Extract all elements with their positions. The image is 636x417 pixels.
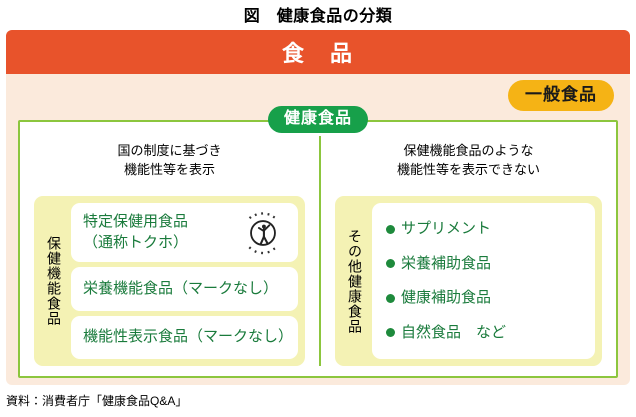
- group-panel-sonota-kenkou: その他健康食品 サプリメント 栄養補助食品 健康: [335, 196, 602, 366]
- tokuho-mark-icon: [240, 210, 286, 256]
- list-item: 自然食品 など: [386, 324, 595, 342]
- list-item-label: 健康補助食品: [401, 289, 491, 307]
- item-card-nutrient-function-food: 栄養機能食品（マークなし）: [71, 267, 298, 310]
- item-card-tokuho: 特定保健用食品 （通称トクホ）: [71, 203, 298, 262]
- source-note: 資料：消費者庁「健康食品Q&A」: [6, 392, 187, 409]
- column-sonota-kenkou: 保健機能食品のような 機能性等を表示できない その他健康食品 サプリメント 栄養…: [321, 122, 616, 376]
- list-item-label: 栄養補助食品: [401, 255, 491, 273]
- page-title: 図 健康食品の分類: [0, 2, 636, 26]
- bullet-dot-icon: [386, 259, 395, 268]
- list-item-label: サプリメント: [401, 220, 491, 238]
- item-label-tokuho: 特定保健用食品 （通称トクホ）: [83, 212, 188, 253]
- food-classification-panel: 食 品 一般食品 健康食品 国の制度に基づき 機能性等を表示 保健機能食品 特定…: [6, 30, 630, 385]
- group-panel-hoken-kinou: 保健機能食品 特定保健用食品 （通称トクホ）: [34, 196, 305, 366]
- list-item: 栄養補助食品: [386, 255, 595, 273]
- health-food-box: 健康食品 国の制度に基づき 機能性等を表示 保健機能食品 特定保健用食品 （通称…: [18, 120, 618, 378]
- other-health-food-list: サプリメント 栄養補助食品 健康補助食品 自然食品 など: [372, 203, 595, 359]
- item-label-nutrient-function-food: 栄養機能食品（マークなし）: [83, 279, 278, 299]
- vertical-label-sonota-kenkou-shokuhin: その他健康食品: [342, 203, 368, 359]
- food-category-band: 食 品: [6, 30, 630, 74]
- bullet-dot-icon: [386, 328, 395, 337]
- food-band-label: 食 品: [282, 36, 354, 68]
- list-item-label: 自然食品 など: [401, 324, 506, 342]
- health-food-badge: 健康食品: [268, 106, 368, 133]
- bullet-dot-icon: [386, 294, 395, 303]
- column-caption-right: 保健機能食品のような 機能性等を表示できない: [321, 142, 616, 180]
- column-caption-left: 国の制度に基づき 機能性等を表示: [20, 142, 319, 180]
- vertical-label-hoken-kinou-shokuhin: 保健機能食品: [41, 203, 67, 359]
- item-card-functional-claims-food: 機能性表示食品（マークなし）: [71, 316, 298, 359]
- other-health-card: サプリメント 栄養補助食品 健康補助食品 自然食品 など: [372, 203, 595, 359]
- item-label-functional-claims-food: 機能性表示食品（マークなし）: [83, 327, 286, 347]
- list-item: 健康補助食品: [386, 289, 595, 307]
- bullet-dot-icon: [386, 225, 395, 234]
- general-food-badge: 一般食品: [508, 80, 614, 111]
- column-hoken-kinou: 国の制度に基づき 機能性等を表示 保健機能食品 特定保健用食品 （通称トクホ）: [20, 122, 319, 376]
- item-card-list: 特定保健用食品 （通称トクホ）: [71, 203, 298, 359]
- list-item: サプリメント: [386, 220, 595, 238]
